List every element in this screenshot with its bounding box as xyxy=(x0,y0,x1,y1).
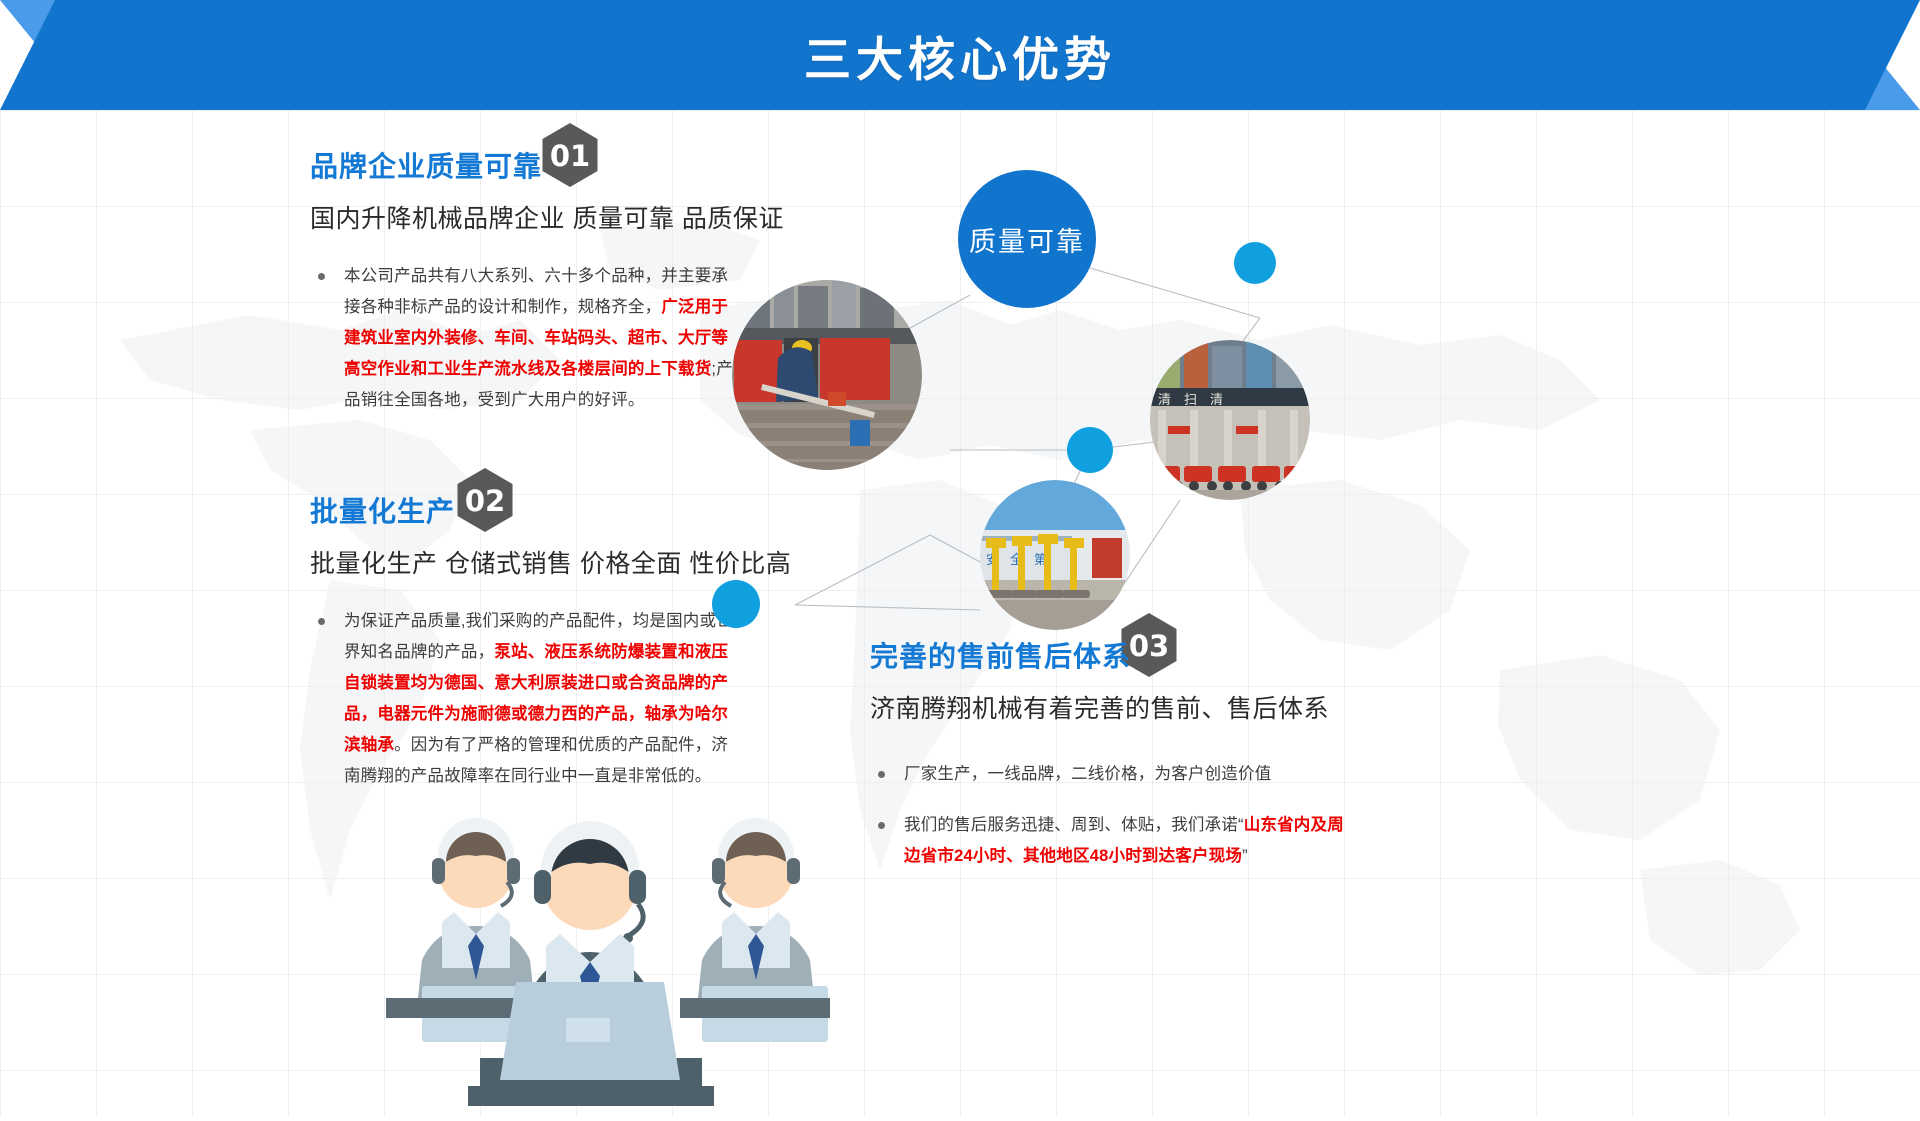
section-02-title: 批量化生产 xyxy=(310,490,455,530)
page-title: 三大核心优势 xyxy=(0,0,1920,110)
section-02-bullet-list: 为保证产品质量,我们采购的产品配件，均是国内或世界知名品牌的产品，泵站、液压系统… xyxy=(310,606,740,792)
section-01-bullet-list: 本公司产品共有八大系列、六十多个品种，并主要承接各种非标产品的设计和制作，规格齐… xyxy=(310,261,740,416)
section-02-subtitle: 批量化生产 仓储式销售 价格全面 性价比高 xyxy=(310,544,740,580)
diagram-dot-center xyxy=(1067,427,1113,473)
advantage-section-01: 品牌企业质量可靠 01 国内升降机械品牌企业 质量可靠 品质保证 本公司产品共有… xyxy=(310,145,740,436)
list-item: 厂家生产，一线品牌，二线价格，为客户创造价值 xyxy=(870,759,1360,790)
aerial-work-platform-photo: 安全第 xyxy=(980,480,1130,630)
page-header: 三大核心优势 xyxy=(0,0,1920,110)
svg-text:清: 清 xyxy=(1210,392,1223,407)
body-text: 我们的售后服务迅捷、周到、体贴，我们承诺“ xyxy=(904,816,1244,834)
advantage-section-03: 完善的售前售后体系 03 济南腾翔机械有着完善的售前、售后体系 厂家生产，一线品… xyxy=(870,635,1360,892)
body-text: ” xyxy=(1242,847,1248,865)
diagram-dot-lower-left xyxy=(712,580,760,628)
section-03-heading-row: 完善的售前售后体系 03 xyxy=(870,635,1360,685)
list-item: 我们的售后服务迅捷、周到、体贴，我们承诺“山东省内及周边省市24小时、其他地区4… xyxy=(870,810,1360,872)
section-01-title: 品牌企业质量可靠 xyxy=(310,145,542,185)
body-text: 厂家生产，一线品牌，二线价格，为客户创造价值 xyxy=(904,765,1271,783)
section-03-subtitle: 济南腾翔机械有着完善的售前、售后体系 xyxy=(870,689,1360,725)
agent-right xyxy=(680,818,830,1042)
diagram-dot-upper-right xyxy=(1234,242,1276,284)
factory-workshop-photo xyxy=(732,280,922,470)
section-02-heading-row: 批量化生产 02 xyxy=(310,490,740,540)
section-03-bullet-list: 厂家生产，一线品牌，二线价格，为客户创造价值 我们的售后服务迅捷、周到、体贴，我… xyxy=(870,759,1360,872)
list-item: 本公司产品共有八大系列、六十多个品种，并主要承接各种非标产品的设计和制作，规格齐… xyxy=(310,261,740,416)
diagram-hub-label: 质量可靠 xyxy=(969,220,1085,259)
svg-text:扫: 扫 xyxy=(1184,392,1197,407)
lift-equipment-yard-photo: 清扫清 xyxy=(1150,340,1310,500)
body-text: 。因为有了严格的管理和优质的产品配件，济南腾翔的产品故障率在同行业中一直是非常低… xyxy=(344,736,728,785)
list-item: 为保证产品质量,我们采购的产品配件，均是国内或世界知名品牌的产品，泵站、液压系统… xyxy=(310,606,740,792)
advantage-section-02: 批量化生产 02 批量化生产 仓储式销售 价格全面 性价比高 为保证产品质量,我… xyxy=(310,490,740,812)
diagram-hub-node: 质量可靠 xyxy=(958,170,1096,308)
section-03-title: 完善的售前售后体系 xyxy=(870,635,1131,675)
call-center-team-illustration xyxy=(350,800,830,1116)
svg-text:清: 清 xyxy=(1158,392,1171,407)
section-01-subtitle: 国内升降机械品牌企业 质量可靠 品质保证 xyxy=(310,199,740,235)
section-01-heading-row: 品牌企业质量可靠 01 xyxy=(310,145,740,195)
network-diagram: 质量可靠 xyxy=(700,150,1340,630)
